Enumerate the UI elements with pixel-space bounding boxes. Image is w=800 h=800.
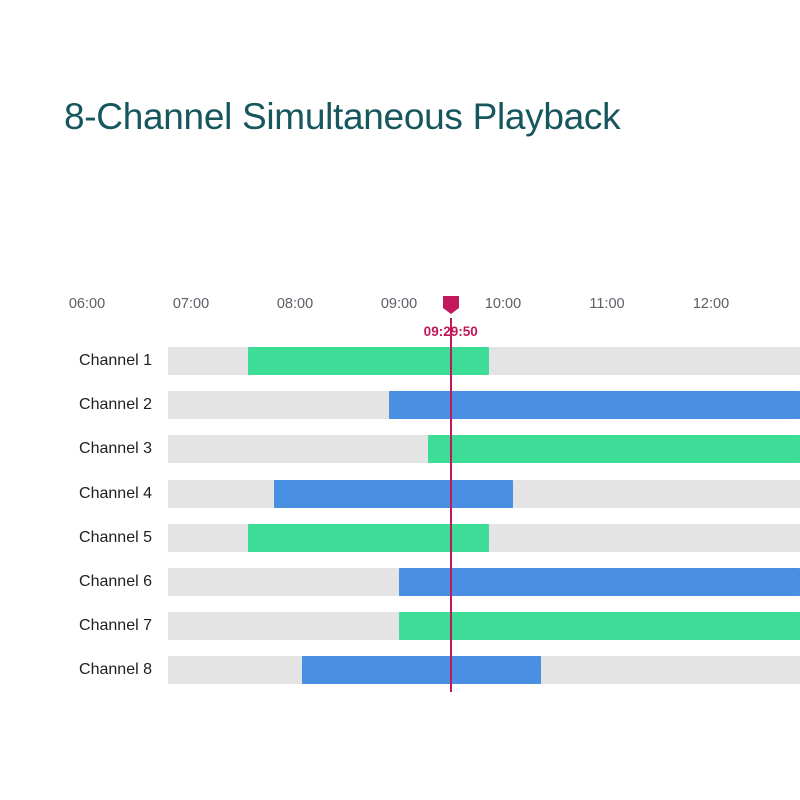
channel-label-5: Channel 5 xyxy=(79,529,152,547)
axis-tick-label: 09:00 xyxy=(381,296,417,312)
clip-channel-8[interactable] xyxy=(302,656,541,684)
playhead-pin-icon[interactable] xyxy=(443,296,459,313)
clip-channel-5[interactable] xyxy=(248,524,489,552)
clip-channel-7[interactable] xyxy=(399,612,800,640)
clip-channel-6[interactable] xyxy=(399,568,800,596)
timeline-chart: 06:0007:0008:0009:0010:0011:0012:00 Chan… xyxy=(0,0,800,800)
clip-channel-4[interactable] xyxy=(274,480,513,508)
clip-channel-1[interactable] xyxy=(248,347,489,375)
axis-tick-label: 10:00 xyxy=(485,296,521,312)
axis-tick-label: 11:00 xyxy=(589,296,624,312)
playhead-pin-tip xyxy=(443,308,459,314)
channel-label-7: Channel 7 xyxy=(79,617,152,635)
clip-channel-3[interactable] xyxy=(428,435,800,463)
channel-label-4: Channel 4 xyxy=(79,485,152,503)
axis-tick-label: 07:00 xyxy=(173,296,209,312)
channel-label-2: Channel 2 xyxy=(79,396,152,414)
playhead-pin-body xyxy=(443,296,459,308)
playhead-line[interactable] xyxy=(450,318,452,692)
channel-label-8: Channel 8 xyxy=(79,661,152,679)
channel-label-1: Channel 1 xyxy=(79,352,152,370)
axis-tick-label: 12:00 xyxy=(693,296,729,312)
axis-tick-label: 08:00 xyxy=(277,296,313,312)
axis-tick-label: 06:00 xyxy=(69,296,105,312)
channel-label-6: Channel 6 xyxy=(79,573,152,591)
channel-label-3: Channel 3 xyxy=(79,440,152,458)
